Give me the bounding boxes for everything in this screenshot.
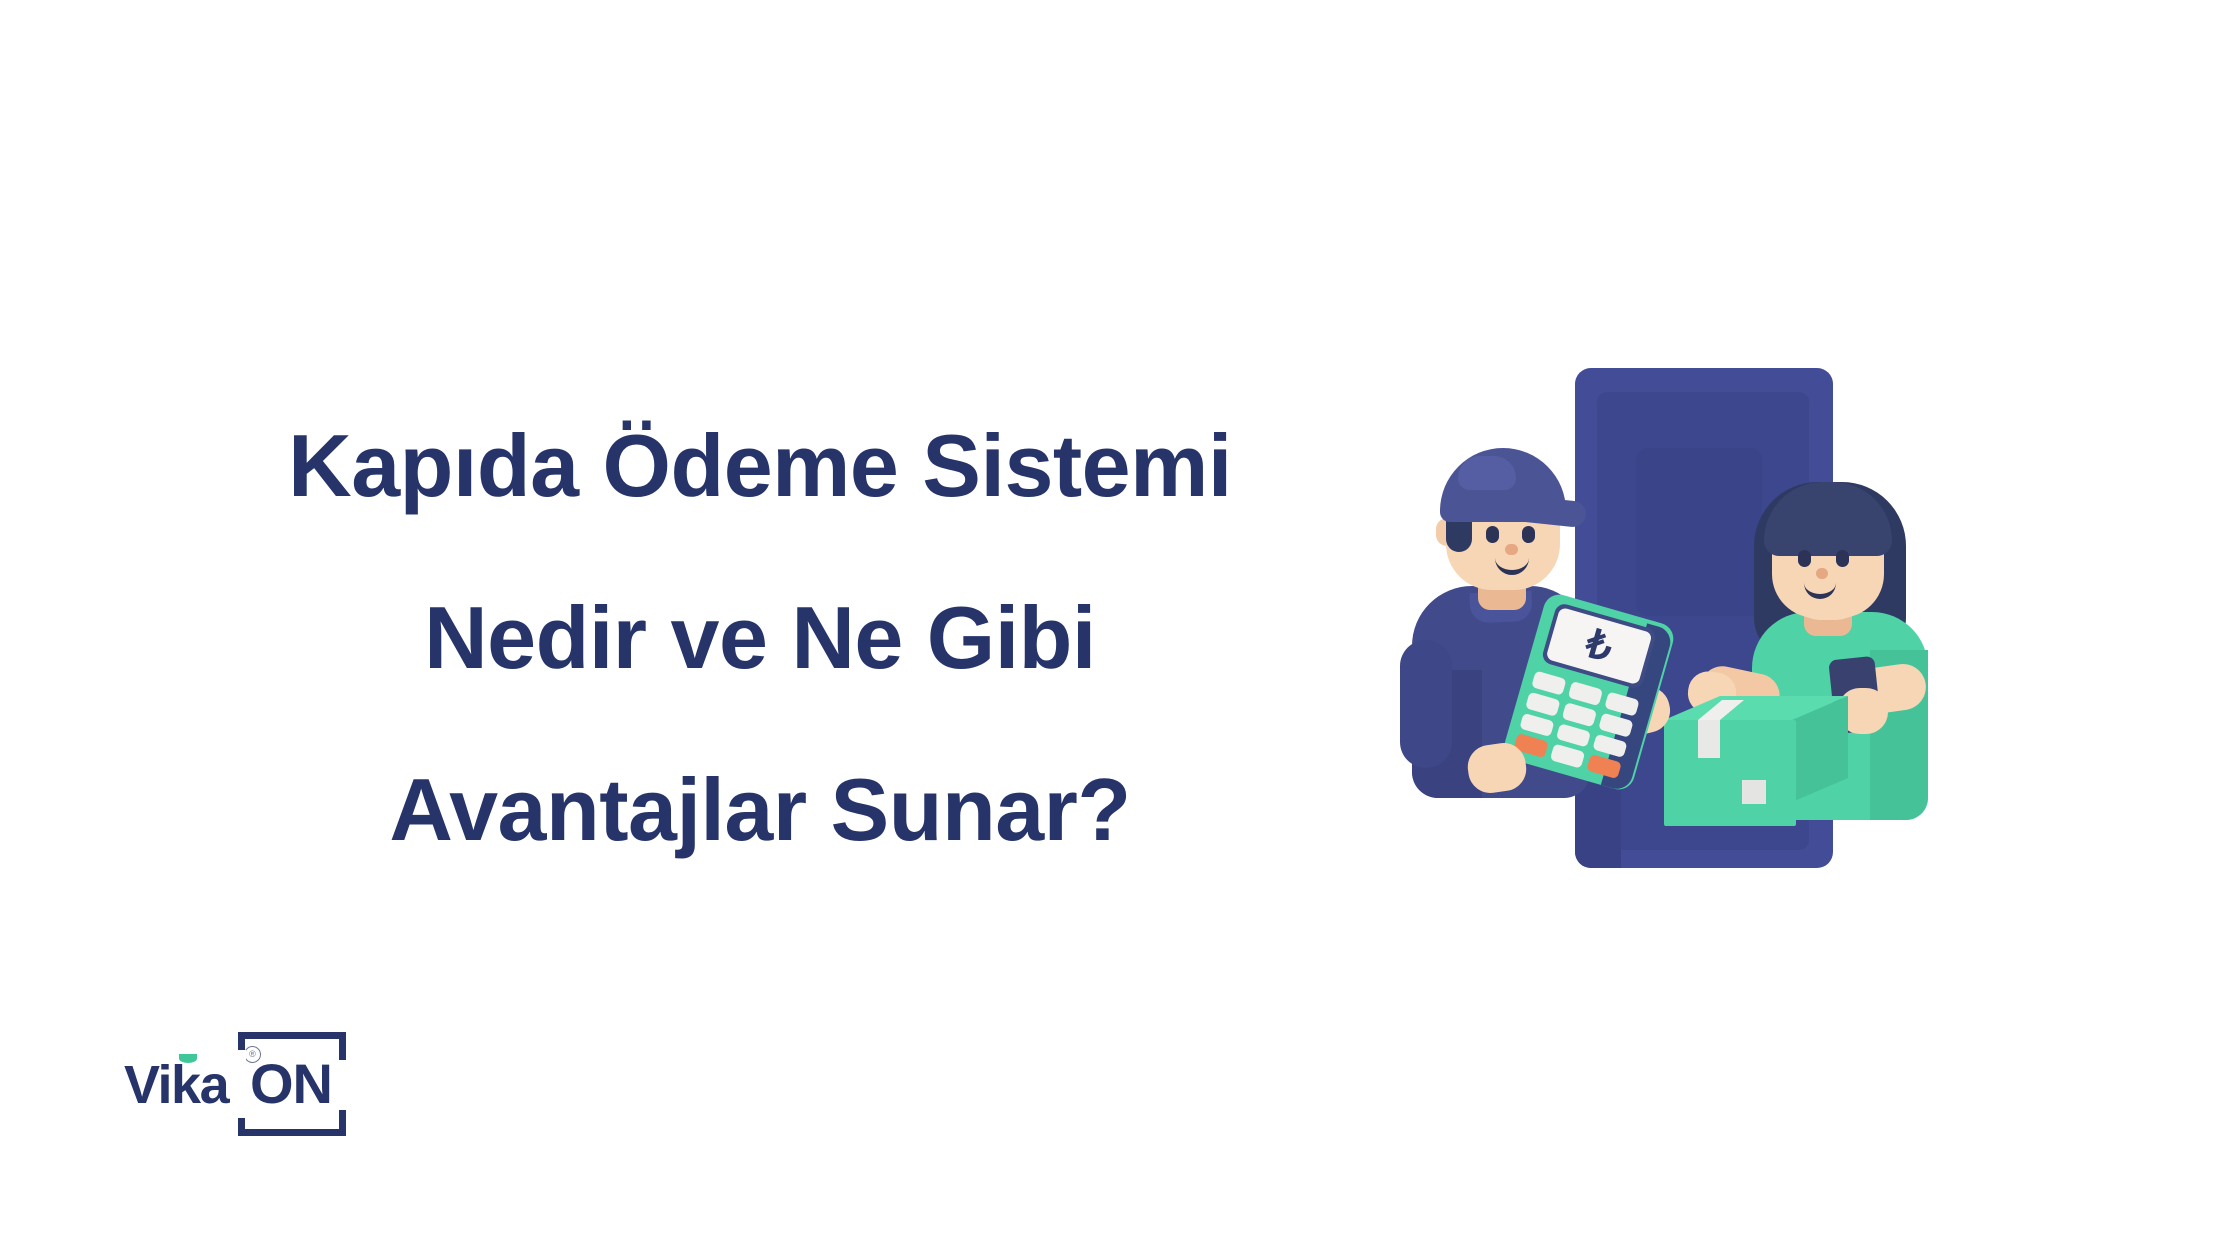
courier-cap-highlight xyxy=(1458,456,1516,490)
cash-on-delivery-illustration: ₺ xyxy=(1400,340,1980,880)
pos-key xyxy=(1550,744,1585,769)
courier-arm-left xyxy=(1400,640,1452,768)
pos-key xyxy=(1531,671,1566,696)
customer-eye-right xyxy=(1836,550,1849,567)
package-front-face xyxy=(1664,720,1796,826)
package-tape-front xyxy=(1698,720,1720,758)
courier-eye-right xyxy=(1522,526,1535,543)
pos-keypad xyxy=(1513,671,1639,780)
logo-square-notch xyxy=(339,1060,351,1110)
package-label xyxy=(1742,780,1766,804)
pos-key xyxy=(1562,702,1597,727)
logo-badge-text: ON xyxy=(250,1056,332,1112)
page-title: Kapıda Ödeme Sistemi Nedir ve Ne Gibi Av… xyxy=(120,380,1400,896)
pos-key xyxy=(1556,723,1591,748)
headline-line-2: Nedir ve Ne Gibi xyxy=(120,552,1400,724)
pos-key-enter xyxy=(1586,754,1621,779)
customer-eye-left xyxy=(1798,550,1811,567)
turkish-lira-sign-icon: ₺ xyxy=(1581,623,1616,668)
headline-line-3: Avantajlar Sunar? xyxy=(120,724,1400,896)
pos-key xyxy=(1598,712,1633,737)
door-inset-panel xyxy=(1636,448,1762,616)
banner-canvas: Kapıda Ödeme Sistemi Nedir ve Ne Gibi Av… xyxy=(0,0,2240,1260)
pos-key xyxy=(1525,691,1560,716)
courier-eye-left xyxy=(1486,526,1499,543)
logo-spacer xyxy=(232,1050,246,1118)
pos-key xyxy=(1568,681,1603,706)
brand-logo[interactable]: Vika ® ON xyxy=(124,1032,364,1140)
pos-screen: ₺ xyxy=(1545,607,1652,685)
logo-wordmark: Vika xyxy=(124,1058,228,1112)
pos-key xyxy=(1519,712,1554,737)
logo-breve-accent-icon xyxy=(179,1054,197,1063)
headline-line-1: Kapıda Ödeme Sistemi xyxy=(120,380,1400,552)
pos-key xyxy=(1592,733,1627,758)
